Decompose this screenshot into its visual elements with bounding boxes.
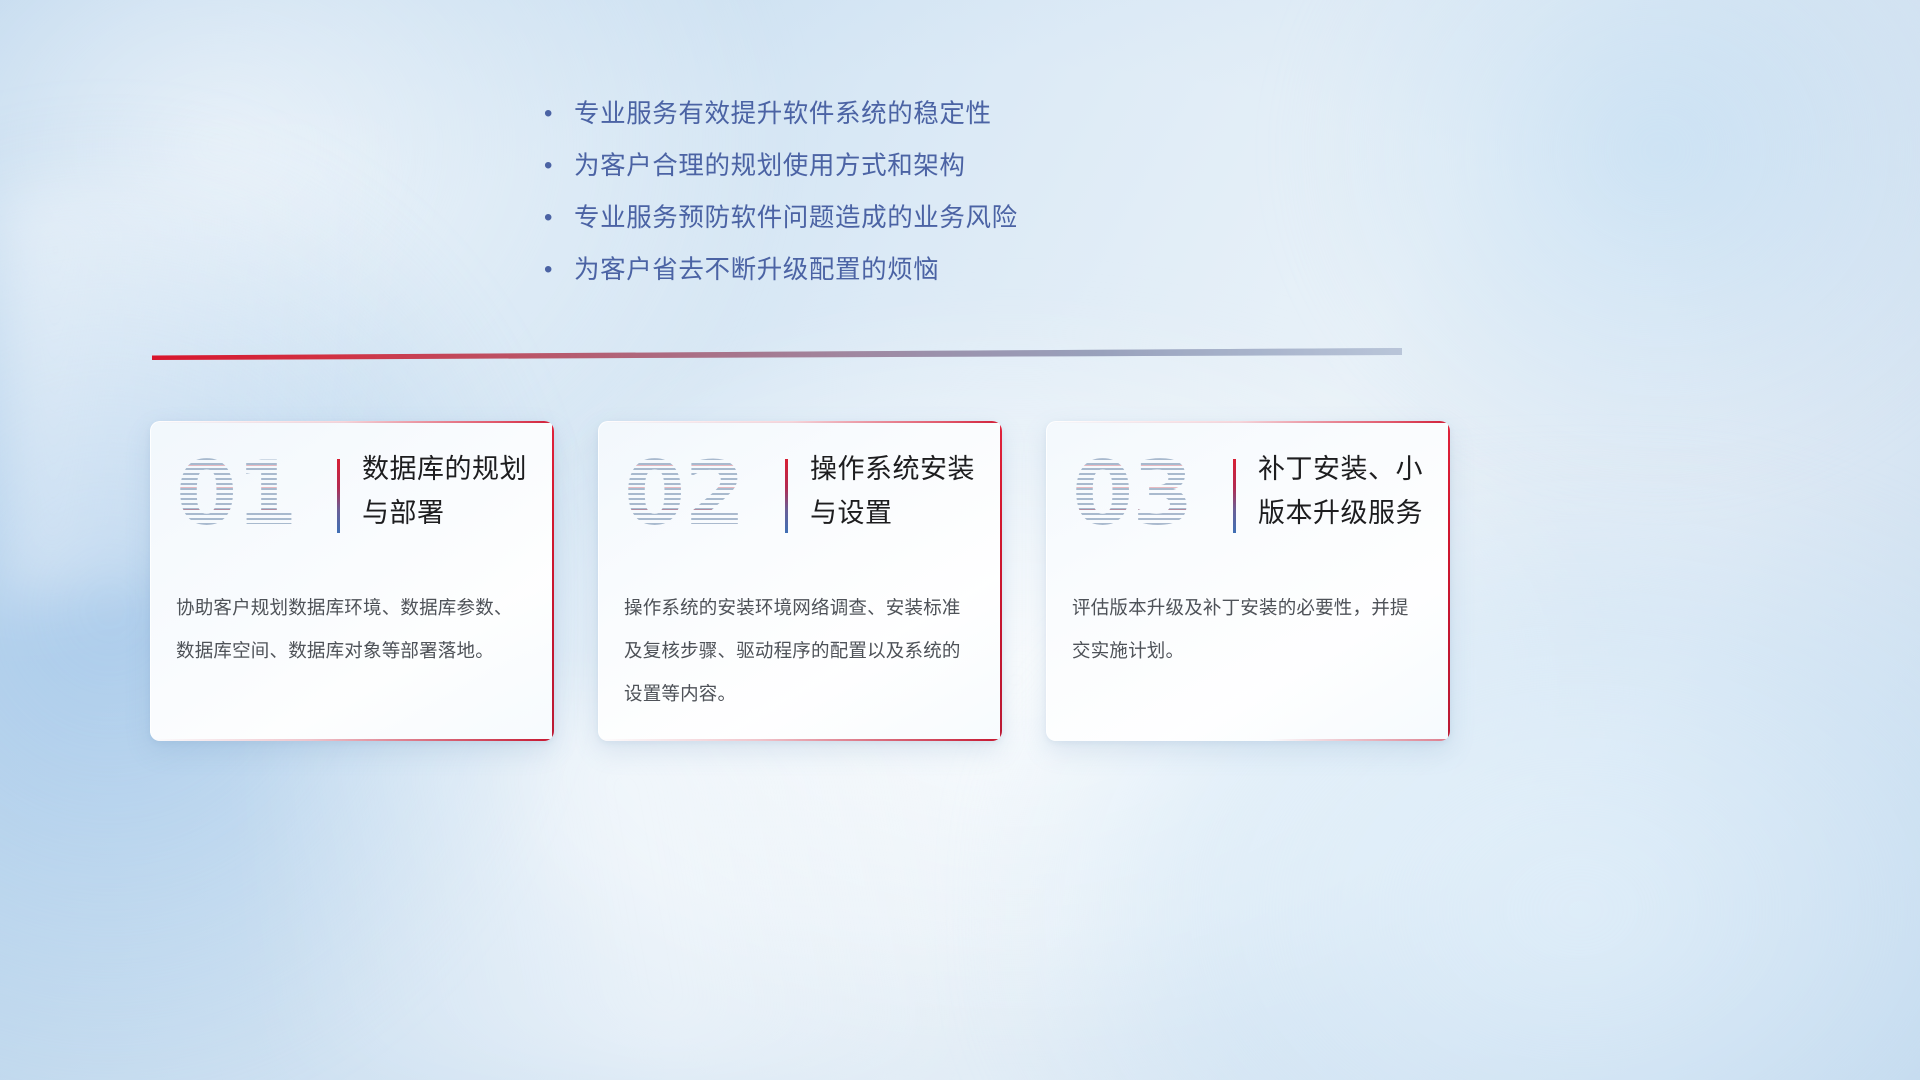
bullet-marker-icon: • <box>540 244 574 296</box>
slide-canvas: • 专业服务有效提升软件系统的稳定性 • 为客户合理的规划使用方式和架构 • 专… <box>0 0 1920 1080</box>
card-top-accent-line <box>598 421 1002 423</box>
card-title-line-1: 补丁安装、小 <box>1258 447 1428 491</box>
card-title-line-2: 版本升级服务 <box>1258 491 1428 535</box>
card-bottom-accent-line <box>1046 739 1450 741</box>
bullet-text-4: 为客户省去不断升级配置的烦恼 <box>574 244 939 296</box>
bullet-marker-icon: • <box>540 88 574 140</box>
service-card-03[interactable]: 03 03 补丁安装、小 版本升级服务 评估版本升级及补丁安装的必要性，并提交实… <box>1046 421 1450 741</box>
card-number-01-tint: 01 <box>176 443 306 545</box>
service-card-group: 01 01 数据库的规划 与部署 协助客户规划数据库环境、数据库参数、数据库空间… <box>150 421 1770 743</box>
bullet-item-4: • 为客户省去不断升级配置的烦恼 <box>540 244 1240 296</box>
card-number-03-tint: 03 <box>1072 443 1202 545</box>
divider-sheen <box>152 348 1402 360</box>
bullet-marker-icon: • <box>540 192 574 244</box>
bullet-item-1: • 专业服务有效提升软件系统的稳定性 <box>540 88 1240 140</box>
card-title-line-2: 与设置 <box>810 491 980 535</box>
benefits-bullet-list: • 专业服务有效提升软件系统的稳定性 • 为客户合理的规划使用方式和架构 • 专… <box>540 88 1240 296</box>
card-title-02: 操作系统安装 与设置 <box>810 447 980 535</box>
card-header: 01 01 数据库的规划 与部署 <box>150 439 554 557</box>
bullet-text-1: 专业服务有效提升软件系统的稳定性 <box>574 88 992 140</box>
bullet-text-2: 为客户合理的规划使用方式和架构 <box>574 140 966 192</box>
bullet-item-3: • 专业服务预防软件问题造成的业务风险 <box>540 192 1240 244</box>
card-title-03: 补丁安装、小 版本升级服务 <box>1258 447 1428 535</box>
bullet-text-3: 专业服务预防软件问题造成的业务风险 <box>574 192 1018 244</box>
card-title-line-1: 操作系统安装 <box>810 447 980 491</box>
card-header: 03 03 补丁安装、小 版本升级服务 <box>1046 439 1450 557</box>
service-card-02[interactable]: 02 02 操作系统安装 与设置 操作系统的安装环境网络调查、安装标准及复核步骤… <box>598 421 1002 741</box>
card-title-divider-bar <box>337 459 340 533</box>
card-body-03: 评估版本升级及补丁安装的必要性，并提交实施计划。 <box>1072 586 1424 672</box>
card-title-line-1: 数据库的规划 <box>362 447 532 491</box>
card-bottom-accent-line <box>598 739 1002 741</box>
service-card-01[interactable]: 01 01 数据库的规划 与部署 协助客户规划数据库环境、数据库参数、数据库空间… <box>150 421 554 741</box>
card-title-01: 数据库的规划 与部署 <box>362 447 532 535</box>
card-header: 02 02 操作系统安装 与设置 <box>598 439 1002 557</box>
card-top-accent-line <box>1046 421 1450 423</box>
card-top-accent-line <box>150 421 554 423</box>
section-divider <box>152 348 1402 362</box>
card-body-01: 协助客户规划数据库环境、数据库参数、数据库空间、数据库对象等部署落地。 <box>176 586 528 672</box>
card-bottom-accent-line <box>150 739 554 741</box>
bullet-item-2: • 为客户合理的规划使用方式和架构 <box>540 140 1240 192</box>
card-title-line-2: 与部署 <box>362 491 532 535</box>
bullet-marker-icon: • <box>540 140 574 192</box>
card-title-divider-bar <box>1233 459 1236 533</box>
card-number-02-tint: 02 <box>624 443 754 545</box>
card-body-02: 操作系统的安装环境网络调查、安装标准及复核步骤、驱动程序的配置以及系统的设置等内… <box>624 586 976 715</box>
card-title-divider-bar <box>785 459 788 533</box>
